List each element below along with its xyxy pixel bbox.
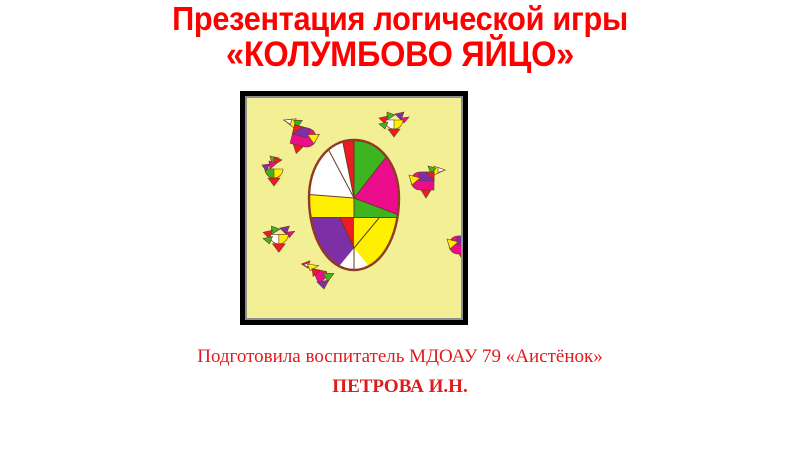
author-credit: Подготовила воспитатель МДОАУ 79 «Аистён… xyxy=(0,345,800,399)
title-line-1: Презентация логической игры xyxy=(28,2,772,36)
frame-inner-border xyxy=(245,96,463,320)
author-institution: Подготовила воспитатель МДОАУ 79 «Аистён… xyxy=(0,345,800,369)
title-line-2: «КОЛУМБОВО ЯЙЦО» xyxy=(28,37,772,73)
illustration-frame xyxy=(240,91,468,325)
author-name: ПЕТРОВА И.Н. xyxy=(0,375,800,399)
slide-root: Презентация логической игры «КОЛУМБОВО Я… xyxy=(0,0,800,450)
page-title: Презентация логической игры «КОЛУМБОВО Я… xyxy=(0,2,800,72)
columbus-egg-svg xyxy=(247,98,461,318)
illustration-canvas xyxy=(247,98,461,318)
